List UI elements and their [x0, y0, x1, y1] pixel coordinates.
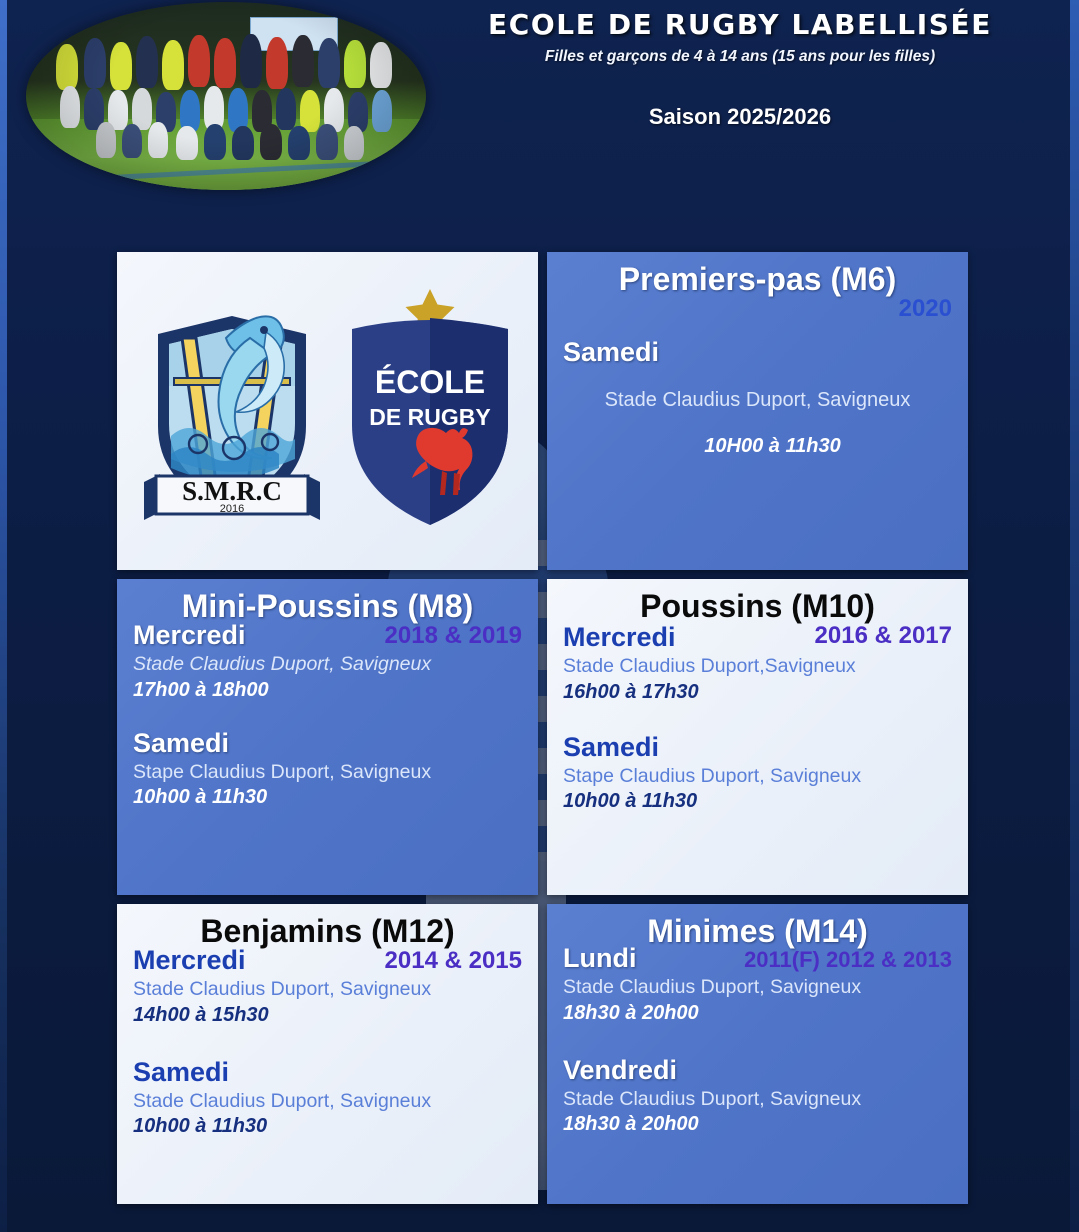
session-block: Samedi Stape Claudius Duport, Savigneux …	[563, 732, 952, 813]
session-place: Stade Claudius Duport, Savigneux	[133, 653, 522, 676]
ecole-shield-icon: ÉCOLE DE RUGBY	[342, 285, 518, 537]
session-day: Samedi	[563, 732, 952, 763]
smrc-logo: S.M.R.C 2016	[138, 286, 326, 536]
category-card-minimes: Minimes (M14) 2011(F) 2012 & 2013 Lundi …	[547, 904, 968, 1204]
photo-vignette	[26, 2, 426, 190]
category-title: Poussins (M10)	[563, 589, 952, 624]
page-title: ECOLE DE RUGBY LABELLISÉE	[440, 8, 1040, 41]
session-place: Stade Claudius Duport,Savigneux	[563, 655, 952, 678]
categories-grid: S.M.R.C 2016 ÉCOLE DE RUGBY	[117, 252, 968, 1213]
session-day: Samedi	[133, 728, 522, 759]
session-block: Samedi Stape Claudius Duport, Savigneux …	[133, 728, 522, 809]
category-card-poussins: Poussins (M10) 2016 & 2017 Mercredi Stad…	[547, 579, 968, 895]
team-photo	[26, 2, 426, 190]
session-block: Samedi Stade Claudius Duport, Savigneux …	[563, 337, 952, 458]
session-place: Stade Claudius Duport, Savigneux	[133, 978, 522, 1001]
session-place: Stape Claudius Duport, Savigneux	[133, 761, 522, 784]
session-block: Vendredi Stade Claudius Duport, Savigneu…	[563, 1055, 952, 1136]
session-block: Samedi Stade Claudius Duport, Savigneux …	[133, 1057, 522, 1138]
header: ECOLE DE RUGBY LABELLISÉE Filles et garç…	[440, 8, 1040, 130]
category-title: Premiers-pas (M6)	[563, 262, 952, 297]
session-time: 10h00 à 11h30	[133, 1114, 522, 1138]
category-card-benjamins: Benjamins (M12) 2014 & 2015 Mercredi Sta…	[117, 904, 538, 1204]
session-time: 18h30 à 20h00	[563, 1112, 952, 1136]
session-day: Samedi	[563, 337, 952, 368]
category-years: 2020	[563, 295, 952, 323]
session-place: Stade Claudius Duport, Savigneux	[563, 1088, 952, 1111]
session-place: Stade Claudius Duport, Savigneux	[563, 388, 952, 412]
category-card-mini-poussins: Mini-Poussins (M8) 2018 & 2019 Mercredi …	[117, 579, 538, 895]
session-time: 16h00 à 17h30	[563, 680, 952, 704]
session-time: 10H00 à 11h30	[563, 434, 952, 458]
ecole-de-rugby-logo: ÉCOLE DE RUGBY	[342, 285, 518, 537]
smrc-founded-year: 2016	[219, 503, 243, 515]
ecole-line2: DE RUGBY	[369, 404, 490, 430]
left-edge-accent	[0, 0, 7, 1232]
session-place: Stape Claudius Duport, Savigneux	[563, 765, 952, 788]
session-place: Stade Claudius Duport, Savigneux	[133, 1090, 522, 1113]
session-place: Stade Claudius Duport, Savigneux	[563, 976, 952, 999]
session-time: 14h00 à 15h30	[133, 1003, 522, 1027]
grid-row-3: Benjamins (M12) 2014 & 2015 Mercredi Sta…	[117, 904, 968, 1204]
season-label: Saison 2025/2026	[440, 104, 1040, 130]
category-title: Mini-Poussins (M8)	[133, 589, 522, 624]
session-day: Vendredi	[563, 1055, 952, 1086]
ecole-line1: ÉCOLE	[374, 364, 484, 400]
page-subtitle: Filles et garçons de 4 à 14 ans (15 ans …	[440, 48, 1040, 66]
category-title: Benjamins (M12)	[133, 914, 522, 949]
session-day: Samedi	[133, 1057, 522, 1088]
session-time: 17h00 à 18h00	[133, 678, 522, 702]
logos-card: S.M.R.C 2016 ÉCOLE DE RUGBY	[117, 252, 538, 570]
grid-row-1: S.M.R.C 2016 ÉCOLE DE RUGBY	[117, 252, 968, 570]
smrc-shield-icon: S.M.R.C 2016	[138, 286, 326, 536]
poster-root: ECOLE DE RUGBY LABELLISÉE Filles et garç…	[0, 0, 1079, 1232]
category-card-premiers-pas: Premiers-pas (M6) 2020 Samedi Stade Clau…	[547, 252, 968, 570]
session-time: 10h00 à 11h30	[563, 789, 952, 813]
session-time: 10h00 à 11h30	[133, 785, 522, 809]
smrc-club-name: S.M.R.C	[182, 476, 282, 506]
session-time: 18h30 à 20h00	[563, 1001, 952, 1025]
grid-row-2: Mini-Poussins (M8) 2018 & 2019 Mercredi …	[117, 579, 968, 895]
